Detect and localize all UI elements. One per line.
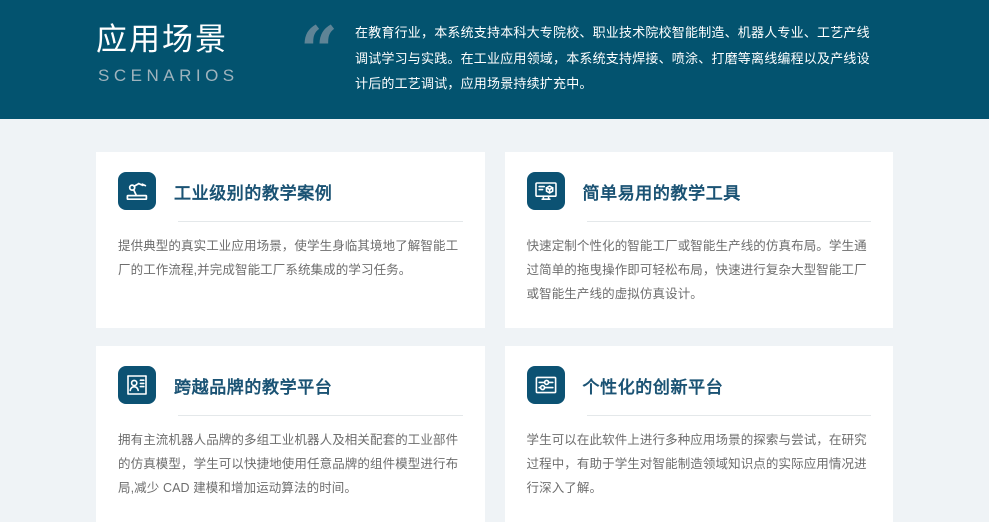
banner-description: 在教育行业，本系统支持本科大专院校、职业技术院校智能制造、机器人专业、工艺产线调… <box>355 20 870 97</box>
scenario-card[interactable]: 个性化的创新平台 学生可以在此软件上进行多种应用场景的探索与尝试，在研究过程中，… <box>505 346 894 522</box>
robot-arm-icon <box>118 172 156 210</box>
card-divider <box>178 415 463 416</box>
card-description: 提供典型的真实工业应用场景，使学生身临其境地了解智能工厂的工作流程,并完成智能工… <box>118 234 463 282</box>
scenario-card[interactable]: 跨越品牌的教学平台 拥有主流机器人品牌的多组工业机器人及相关配套的工业部件的仿真… <box>96 346 485 522</box>
sliders-settings-icon <box>527 366 565 404</box>
card-header: 个性化的创新平台 <box>527 366 872 404</box>
card-title: 跨越品牌的教学平台 <box>174 373 332 398</box>
card-description: 学生可以在此软件上进行多种应用场景的探索与尝试，在研究过程中，有助于学生对智能制… <box>527 428 872 500</box>
page-title: 应用场景 <box>96 21 300 59</box>
card-title: 工业级别的教学案例 <box>174 179 332 204</box>
page-subtitle: SCENARIOS <box>98 65 300 87</box>
card-header: 工业级别的教学案例 <box>118 172 463 210</box>
scenario-card-grid: 工业级别的教学案例 提供典型的真实工业应用场景，使学生身临其境地了解智能工厂的工… <box>0 119 989 522</box>
scenario-card[interactable]: 简单易用的教学工具 快速定制个性化的智能工厂或智能生产线的仿真布局。学生通过简单… <box>505 152 894 328</box>
card-description: 快速定制个性化的智能工厂或智能生产线的仿真布局。学生通过简单的拖曳操作即可轻松布… <box>527 234 872 306</box>
page-header-banner: 应用场景 SCENARIOS “ 在教育行业，本系统支持本科大专院校、职业技术院… <box>0 0 989 119</box>
card-header: 简单易用的教学工具 <box>527 172 872 210</box>
card-divider <box>587 221 872 222</box>
id-badge-person-icon <box>118 366 156 404</box>
scenario-card[interactable]: 工业级别的教学案例 提供典型的真实工业应用场景，使学生身临其境地了解智能工厂的工… <box>96 152 485 328</box>
monitor-cube-icon <box>527 172 565 210</box>
card-title: 个性化的创新平台 <box>583 373 724 398</box>
card-title: 简单易用的教学工具 <box>583 179 741 204</box>
banner-title-block: 应用场景 SCENARIOS <box>0 0 300 87</box>
card-divider <box>587 415 872 416</box>
card-header: 跨越品牌的教学平台 <box>118 366 463 404</box>
card-description: 拥有主流机器人品牌的多组工业机器人及相关配套的工业部件的仿真模型，学生可以快捷地… <box>118 428 463 500</box>
quote-mark-icon: “ <box>300 18 355 84</box>
card-divider <box>178 221 463 222</box>
